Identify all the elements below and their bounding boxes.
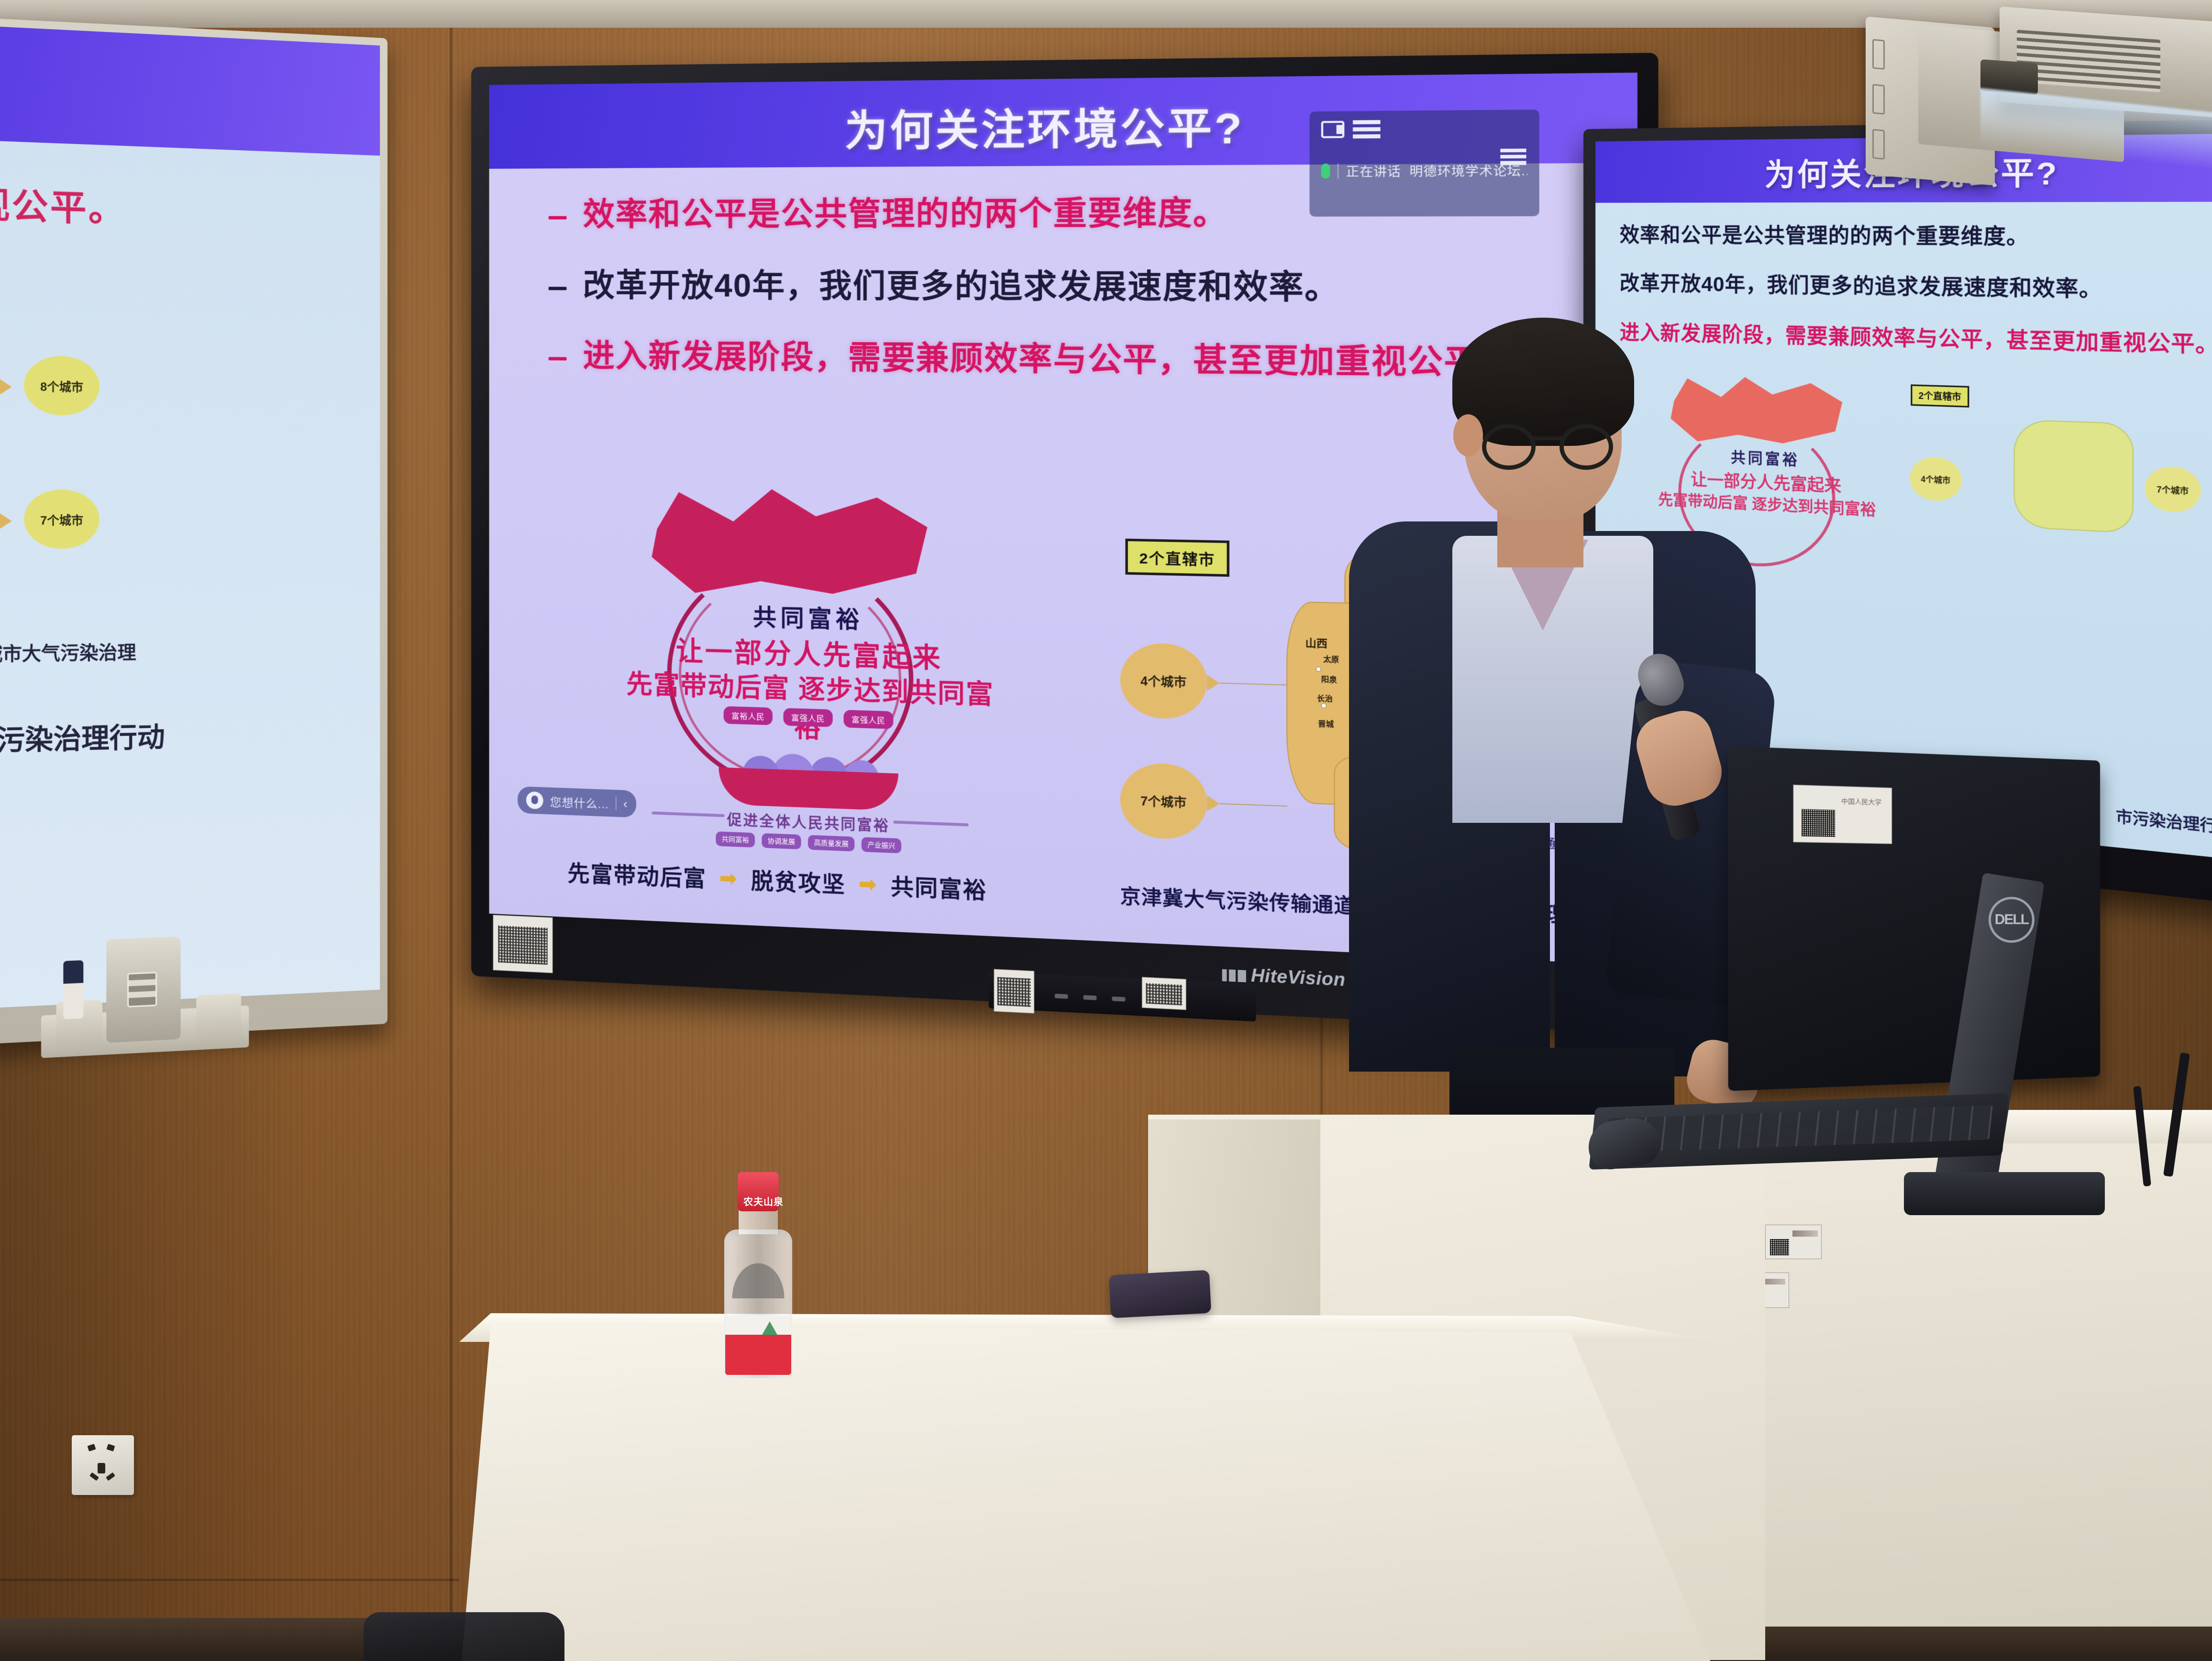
monitor-asset-label: 中国人民大学 bbox=[1793, 785, 1892, 844]
bullet-dash-icon bbox=[549, 287, 567, 290]
socket-hole-neutral bbox=[106, 1473, 115, 1481]
power-socket[interactable] bbox=[72, 1435, 134, 1495]
flow-step-3: 共同富裕 bbox=[891, 869, 987, 906]
secondary-map-bubble-1: 4个城市 bbox=[1910, 456, 1962, 502]
map-bubble-4cities: 4个城市 bbox=[1120, 642, 1207, 720]
floor-bag bbox=[364, 1612, 564, 1661]
meeting-status-overlay[interactable]: 正在讲话: 明德环境学术论坛... bbox=[1309, 110, 1539, 217]
map-bubble-7cities: 7个城市 bbox=[1120, 762, 1207, 840]
plate-slot bbox=[1872, 39, 1885, 69]
camera-icon[interactable] bbox=[1321, 121, 1345, 138]
qr-code-icon bbox=[1770, 1239, 1789, 1255]
dell-logo: DELL bbox=[1989, 897, 2035, 943]
asset-owner-text bbox=[1792, 1230, 1818, 1237]
map-bubble-7cities-label: 7个城市 bbox=[1140, 791, 1186, 811]
plate-slot bbox=[1872, 84, 1885, 114]
assistant-pill-label: 您想什么... bbox=[550, 793, 609, 812]
emblem-tag: 产业振兴 bbox=[862, 837, 901, 853]
map-arrow-1 bbox=[1207, 675, 1219, 691]
monitor-base bbox=[1904, 1172, 2105, 1215]
secondary-bullet-1: 效率和公平是公共管理的的两个重要维度。 bbox=[1620, 223, 2212, 251]
emblem-pill: 富裕人民 bbox=[724, 706, 773, 725]
desk-asset-label bbox=[1765, 1225, 1822, 1259]
whiteboard-marker[interactable] bbox=[63, 960, 83, 1019]
emblem-pill: 富强人民 bbox=[843, 710, 893, 729]
projected-title-band bbox=[0, 26, 380, 156]
secondary-caption: 市污染治理行动 bbox=[2116, 803, 2212, 838]
brand-logo-icon bbox=[1222, 969, 1246, 983]
whiteboard-sub-1: 城市大气污染治理 bbox=[0, 637, 136, 666]
map-city-taiyuan: 太原 bbox=[1323, 653, 1339, 664]
map-bubble-4cities-label: 4个城市 bbox=[1140, 671, 1186, 690]
list-icon[interactable] bbox=[1353, 120, 1381, 139]
slide-bullet-2-text: 改革开放40年，我们更多的追求发展速度和效率。 bbox=[583, 266, 1340, 307]
assistant-pill[interactable]: 您想什么... ‹ bbox=[518, 786, 636, 818]
bottle-brand-label: 农夫山泉 bbox=[743, 1194, 784, 1208]
whiteboard-arrow-1 bbox=[0, 379, 12, 395]
whiteboard-bubble-2: 7个城市 bbox=[24, 489, 100, 549]
secondary-bullet-2: 改革开放40年，我们更多的追求发展速度和效率。 bbox=[1620, 271, 2212, 304]
speaking-status-row: 正在讲话: 明德环境学术论坛... bbox=[1321, 161, 1527, 180]
meeting-icon-row bbox=[1321, 119, 1527, 138]
front-table bbox=[459, 1325, 1722, 1661]
plate-slot bbox=[1872, 129, 1885, 159]
assistant-avatar-icon bbox=[526, 791, 543, 809]
map-arrow-2 bbox=[1207, 795, 1219, 812]
bottle-mountain-graphic bbox=[732, 1263, 785, 1298]
ear bbox=[1453, 414, 1483, 456]
emblem-tag: 协调发展 bbox=[762, 833, 801, 850]
flow-step-1: 先富带动后富 bbox=[568, 855, 707, 893]
socket-hole-live bbox=[89, 1473, 99, 1481]
emblem-pill: 富强人民 bbox=[784, 708, 833, 727]
emblem-tag: 高质量发展 bbox=[808, 835, 854, 852]
socket-hole-left bbox=[88, 1444, 96, 1451]
desktop-monitor: 中国人民大学 bbox=[1728, 746, 2100, 1091]
microphone-level-icon bbox=[1321, 164, 1330, 179]
flow-arrow-icon: ➡ bbox=[858, 871, 877, 897]
whiteboard-bubble-1-label: 8个城市 bbox=[40, 376, 83, 394]
qr-code-icon bbox=[1802, 809, 1835, 837]
secondary-map-shape bbox=[2013, 419, 2134, 533]
wall-seam-vertical bbox=[450, 28, 453, 1661]
socket-hole-right bbox=[107, 1444, 115, 1451]
display-asset-label-ctrl bbox=[994, 969, 1034, 1013]
emblem-tag: 共同富裕 bbox=[716, 831, 755, 848]
secondary-map: 2个直辖市 4个城市 7个城市 bbox=[1909, 380, 2212, 612]
speaking-label: 正在讲话: bbox=[1346, 162, 1402, 180]
marker-cup-right bbox=[196, 993, 241, 1042]
whiteboard-red-text: 视公平。 bbox=[0, 175, 126, 232]
control-button[interactable] bbox=[1055, 994, 1068, 999]
monitor-rear-panel bbox=[1728, 746, 2100, 1091]
map-city-yangquan: 阳泉 bbox=[1321, 674, 1337, 685]
map-legend-box: 2个直辖市 bbox=[1125, 539, 1229, 577]
projector-vent bbox=[2017, 30, 2160, 92]
eyeglasses-bridge bbox=[1532, 436, 1563, 440]
map-city-changzhi: 长治 bbox=[1317, 693, 1333, 704]
flow-arrow-icon: ➡ bbox=[719, 865, 738, 891]
display-asset-label-ctrl-2 bbox=[1142, 977, 1186, 1010]
eyeglasses-left-lens bbox=[1482, 424, 1536, 470]
map-city-dot bbox=[1316, 666, 1321, 672]
whiteboard-arrow-2 bbox=[0, 513, 12, 529]
divider bbox=[616, 797, 617, 810]
socket-hole-ground bbox=[98, 1463, 105, 1473]
eyeglasses-right-lens bbox=[1559, 424, 1613, 470]
water-bottle[interactable]: 农夫山泉 bbox=[718, 1172, 799, 1378]
whiteboard-bubble-2-label: 7个城市 bbox=[40, 510, 83, 528]
map-city-jincheng: 晋城 bbox=[1318, 718, 1334, 729]
slide-flow-row: 先富带动后富 ➡ 脱贫攻坚 ➡ 共同富裕 bbox=[568, 855, 987, 905]
qr-code-icon bbox=[498, 925, 547, 965]
control-button[interactable] bbox=[1112, 997, 1125, 1002]
whiteboard-sub-2: 市污染治理行动 bbox=[0, 715, 165, 759]
map-city-dot bbox=[1321, 703, 1327, 709]
qr-code-icon bbox=[997, 977, 1030, 1007]
wall-seam-horizontal bbox=[0, 1579, 459, 1581]
control-button[interactable] bbox=[1084, 995, 1097, 1000]
divider bbox=[1338, 164, 1338, 179]
bullet-dash-icon bbox=[549, 216, 567, 220]
whiteboard-eraser[interactable] bbox=[106, 937, 180, 1043]
keyboard-keys[interactable] bbox=[1605, 1105, 1993, 1153]
display-asset-label-left bbox=[493, 915, 553, 973]
secondary-map-bubble-2: 7个城市 bbox=[2145, 465, 2201, 513]
eyeglass-case[interactable] bbox=[1109, 1270, 1211, 1318]
bottle-neck bbox=[739, 1208, 778, 1234]
chevron-left-icon[interactable]: ‹ bbox=[623, 796, 628, 811]
bottle-label bbox=[725, 1316, 791, 1375]
slide-bullet-1-text: 效率和公平是公共管理的的两个重要维度。 bbox=[583, 193, 1228, 234]
bowl-motif bbox=[719, 767, 898, 811]
menu-icon[interactable] bbox=[1500, 149, 1526, 166]
left-whiteboard: 视公平。 8个城市 7个城市 城市大气污染治理 市污染治理行动 bbox=[0, 18, 387, 1044]
whiteboard-surface: 视公平。 8个城市 7个城市 城市大气污染治理 市污染治理行动 bbox=[0, 26, 380, 1008]
whiteboard-bubble-1: 8个城市 bbox=[24, 355, 100, 416]
map-label-shanxi: 山西 bbox=[1305, 635, 1327, 651]
common-prosperity-emblem: 共同富裕 让一部分人先富起来 先富带动后富 逐步达到共同富裕 富裕人民 富强人民… bbox=[623, 485, 998, 808]
bullet-dash-icon bbox=[549, 357, 567, 360]
eraser-grip bbox=[127, 972, 157, 1008]
display-brand-label: HiteVision bbox=[1251, 965, 1346, 990]
qr-code-icon bbox=[1146, 983, 1182, 1005]
secondary-map-legend: 2个直辖市 bbox=[1911, 385, 1969, 408]
slide-bullet-2: 改革开放40年，我们更多的追求发展速度和效率。 bbox=[549, 266, 1594, 309]
lecture-hall-photo: 视公平。 8个城市 7个城市 城市大气污染治理 市污染治理行动 为何关注环境公平 bbox=[0, 0, 2212, 1661]
flow-step-2: 脱贫攻坚 bbox=[751, 863, 846, 899]
asset-owner-text: 中国人民大学 bbox=[1841, 796, 1886, 807]
speaker-person bbox=[1354, 330, 1756, 1153]
